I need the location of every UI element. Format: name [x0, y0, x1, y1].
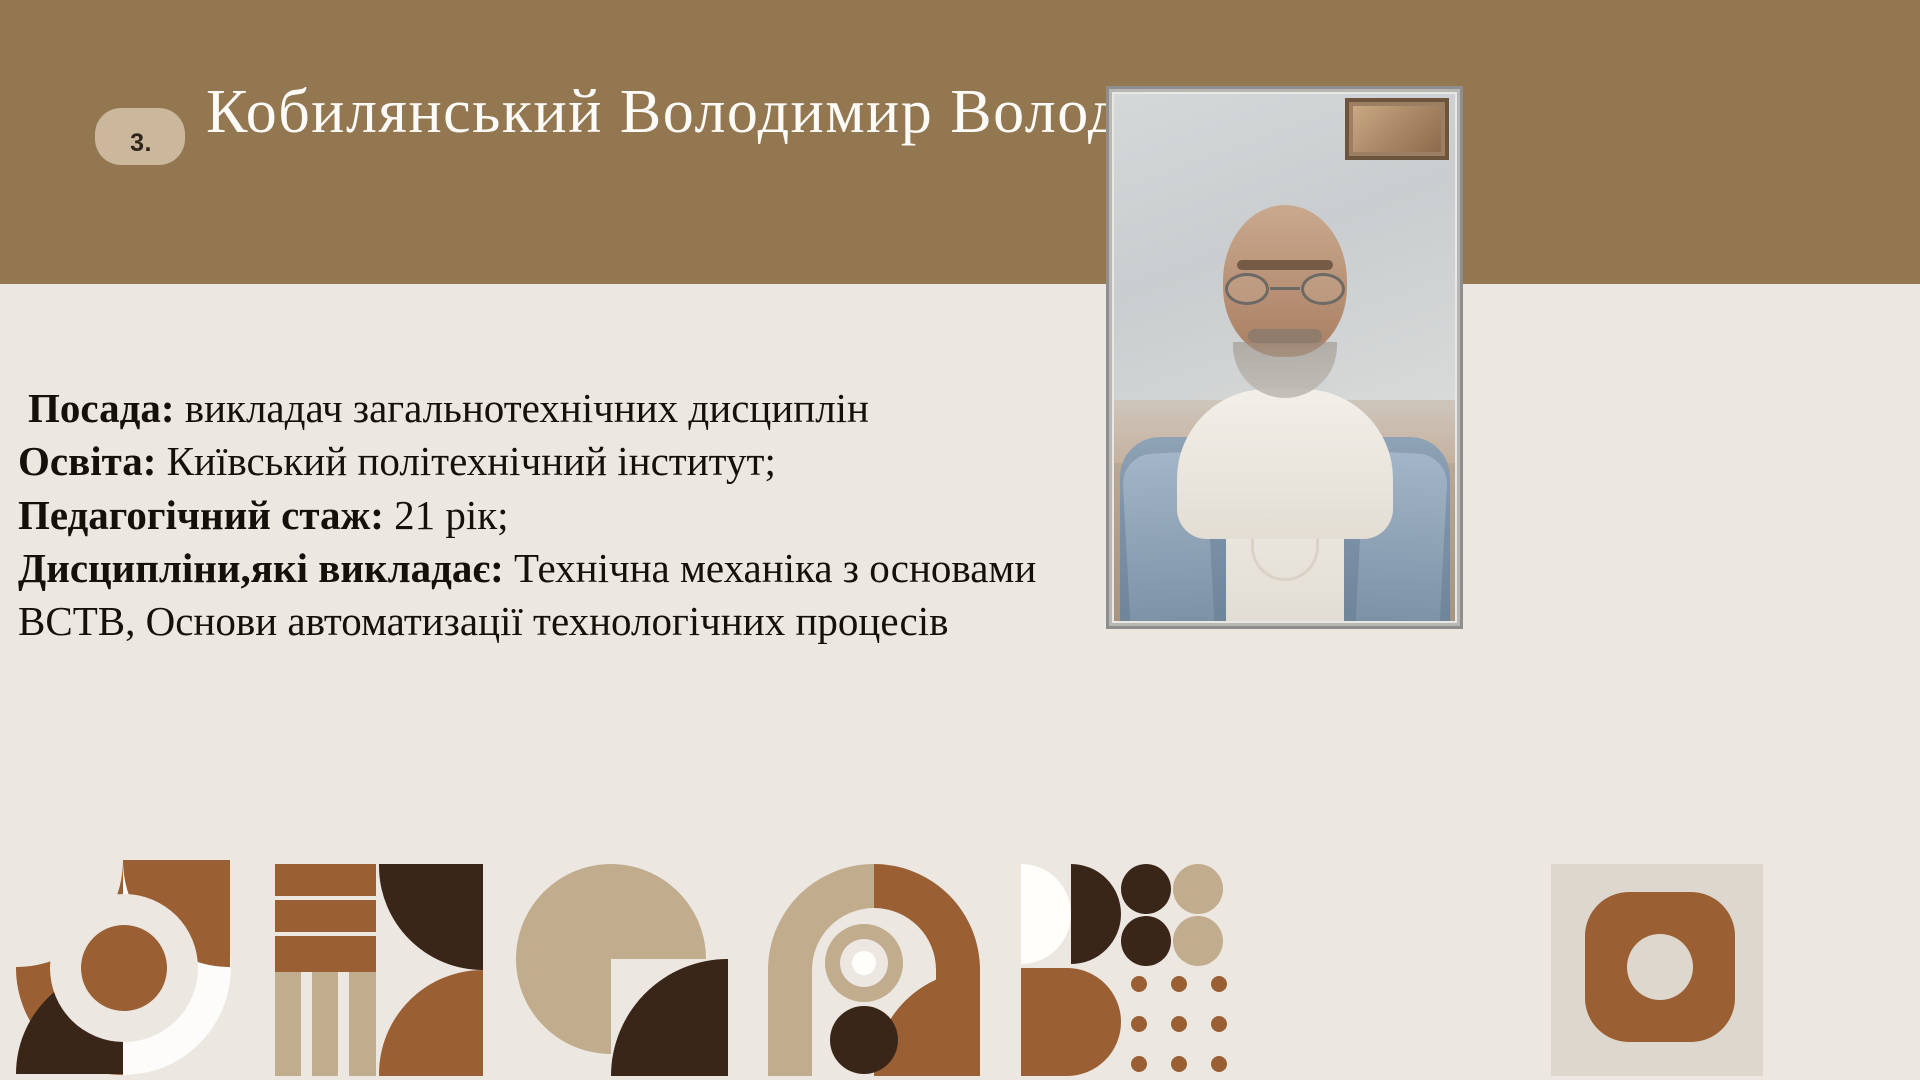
- photo-glasses-right-lens: [1301, 273, 1345, 305]
- info-line-posada: Посада: викладач загальнотехнічних дисци…: [18, 382, 1083, 435]
- deco5-dot-grid: [1131, 976, 1227, 1072]
- label-osvita: Освіта:: [18, 438, 156, 484]
- value-osvita: Київський політехнічний інститут;: [156, 438, 775, 484]
- deco5-dot: [1171, 976, 1187, 992]
- deco5-dot: [1211, 1016, 1227, 1032]
- deco5-dot: [1131, 976, 1147, 992]
- photo-wall-picture: [1345, 98, 1449, 160]
- photo-brows: [1237, 260, 1333, 270]
- deco-half-circles-dot-grid-icon: [1021, 864, 1233, 1076]
- label-posada: Посада:: [28, 385, 174, 431]
- decorative-shapes-row: [0, 860, 1920, 1080]
- deco5-dot: [1171, 1056, 1187, 1072]
- info-block: Посада: викладач загальнотехнічних дисци…: [18, 382, 1083, 648]
- deco2-bar-2: [275, 900, 376, 932]
- value-posada: викладач загальнотехнічних дисциплін: [174, 385, 869, 431]
- deco5-brown-half: [1021, 968, 1121, 1076]
- deco5-dot: [1211, 976, 1227, 992]
- slide-number-text: 3.: [128, 131, 152, 165]
- deco1-center-dot: [81, 925, 167, 1011]
- deco5-dot: [1131, 1056, 1147, 1072]
- portrait-photo: [1114, 94, 1455, 621]
- label-dystsypliny: Дисципліни,які викладає:: [18, 545, 504, 591]
- slide-number-badge: 3.: [95, 108, 185, 165]
- deco5-tan-circle-2: [1173, 916, 1223, 966]
- photo-hood-collar: [1177, 389, 1393, 539]
- label-stazh: Педагогічний стаж:: [18, 492, 384, 538]
- deco2-column-2: [312, 972, 338, 1076]
- deco2-bar-1: [275, 864, 376, 896]
- photo-glasses-bridge: [1270, 287, 1300, 290]
- deco-notched-circle-icon: [516, 864, 728, 1076]
- deco-striped-columns-icon: [275, 864, 483, 1076]
- deco5-dot: [1171, 1016, 1187, 1032]
- deco4-circle-inner: [852, 951, 876, 975]
- deco-arch-with-circles-icon: [768, 864, 980, 1076]
- page-title: Кобилянський Володимир Володимирович: [206, 78, 1706, 146]
- deco6-hole: [1627, 934, 1693, 1000]
- deco5-dark-half: [1071, 864, 1121, 964]
- info-line-dystsypliny: Дисципліни,які викладає: Технічна механі…: [18, 542, 1083, 649]
- deco2-column-1: [275, 972, 301, 1076]
- deco-square-donut-icon: [1551, 864, 1763, 1076]
- photo-glasses: [1225, 273, 1345, 307]
- portrait-photo-frame: [1106, 86, 1463, 629]
- value-stazh: 21 рік;: [384, 492, 509, 538]
- deco5-dot: [1211, 1056, 1227, 1072]
- deco-circle-quadrant-donut-icon: [16, 860, 231, 1075]
- deco5-dark-circle-2: [1121, 916, 1171, 966]
- slide-root: 3. Кобилянський Володимир Володимирович …: [0, 0, 1920, 1080]
- info-line-stazh: Педагогічний стаж: 21 рік;: [18, 489, 1083, 542]
- deco5-dark-circle-1: [1121, 864, 1171, 914]
- deco2-bar-3: [275, 936, 376, 972]
- deco5-tan-circle-1: [1173, 864, 1223, 914]
- deco4-dark-circle: [830, 1006, 898, 1074]
- photo-moustache: [1248, 329, 1322, 343]
- deco2-column-3: [349, 972, 376, 1076]
- deco5-dot: [1131, 1016, 1147, 1032]
- deco2-brown-quadrant: [379, 970, 483, 1076]
- photo-glasses-left-lens: [1225, 273, 1269, 305]
- deco5-white-half: [1021, 864, 1071, 964]
- info-line-osvita: Освіта: Київський політехнічний інститут…: [18, 435, 1083, 488]
- deco2-dark-quadrant: [379, 864, 483, 970]
